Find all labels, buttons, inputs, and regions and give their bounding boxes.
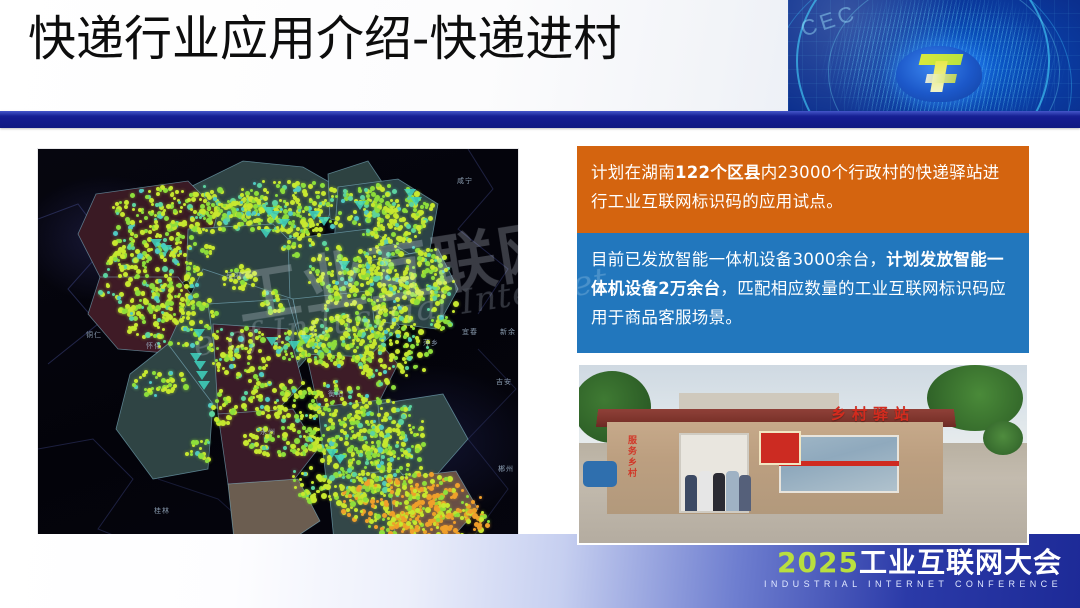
map-data-point: [139, 376, 142, 379]
map-data-point: [118, 274, 122, 278]
map-data-point: [261, 411, 265, 415]
map-data-point: [453, 301, 459, 307]
map-data-point: [418, 428, 421, 431]
map-data-point: [296, 213, 300, 217]
map-data-point: [149, 225, 152, 228]
map-data-point: [342, 401, 347, 406]
map-city-label: 桂林: [154, 506, 170, 516]
map-data-point: [341, 509, 346, 514]
map-data-point: [198, 453, 204, 459]
map-data-point: [153, 314, 156, 317]
map-data-point: [394, 356, 398, 360]
map-data-point: [441, 294, 446, 299]
map-data-point: [256, 378, 259, 381]
map-data-point: [419, 251, 424, 256]
map-data-point: [161, 212, 165, 216]
map-data-point: [112, 206, 115, 209]
rural-express-station-photo[interactable]: 乡村驿站 服务乡村: [577, 363, 1029, 545]
map-data-point: [315, 437, 320, 442]
map-data-point: [418, 520, 421, 523]
map-data-point: [398, 431, 401, 434]
map-data-point: [260, 405, 264, 409]
map-data-point: [208, 245, 212, 249]
map-data-point: [392, 420, 396, 424]
map-marker-triangle: [410, 197, 422, 206]
map-data-point: [435, 301, 440, 306]
map-data-point: [223, 283, 226, 286]
map-data-point: [334, 301, 338, 305]
map-data-point: [338, 471, 341, 474]
map-data-point: [291, 446, 294, 449]
map-data-point: [388, 446, 392, 450]
map-data-point: [410, 344, 415, 349]
map-data-point: [313, 417, 316, 420]
map-data-point: [142, 320, 146, 324]
map-data-point: [402, 485, 407, 490]
map-data-point: [362, 233, 365, 236]
map-data-point: [223, 204, 226, 207]
map-data-point: [406, 290, 411, 295]
map-data-point: [326, 384, 330, 388]
map-data-point: [254, 389, 258, 393]
map-data-point: [448, 488, 452, 492]
map-data-point: [217, 207, 220, 210]
map-data-point: [288, 211, 293, 216]
map-data-point: [405, 267, 409, 271]
map-data-point: [300, 483, 304, 487]
map-data-point: [200, 248, 205, 253]
map-data-point: [107, 291, 110, 294]
map-data-point: [251, 283, 255, 287]
map-data-point: [303, 192, 308, 197]
map-data-point: [183, 327, 187, 331]
map-data-point: [199, 216, 202, 219]
map-data-point: [289, 235, 292, 238]
map-data-point: [420, 433, 425, 438]
page-title: 快递行业应用介绍-快递进村: [28, 14, 621, 64]
map-data-point: [402, 208, 407, 213]
map-data-point: [365, 291, 370, 296]
map-data-point: [180, 206, 183, 209]
map-data-point: [354, 288, 359, 293]
map-data-point: [272, 388, 277, 393]
map-data-point: [369, 248, 372, 251]
map-data-point: [179, 250, 182, 253]
map-data-point: [309, 416, 312, 419]
map-data-point: [359, 438, 362, 441]
map-data-point: [430, 259, 434, 263]
map-marker-triangle: [260, 229, 272, 238]
map-data-point: [265, 300, 269, 304]
map-data-point: [349, 402, 352, 405]
map-data-point: [158, 386, 161, 389]
map-data-point: [222, 213, 227, 218]
map-data-point: [292, 404, 296, 408]
map-data-point: [393, 473, 397, 477]
map-data-point: [235, 348, 239, 352]
map-data-point: [286, 441, 290, 445]
map-data-point: [248, 221, 252, 225]
map-data-point: [318, 403, 321, 406]
map-data-point: [394, 311, 399, 316]
map-data-point: [416, 433, 419, 436]
map-data-point: [175, 237, 180, 242]
map-data-point: [315, 269, 320, 274]
map-data-point: [423, 270, 427, 274]
map-data-point: [354, 447, 358, 451]
map-data-point: [214, 417, 219, 422]
map-data-point: [297, 236, 302, 241]
map-data-point: [171, 220, 175, 224]
map-data-point: [382, 226, 385, 229]
conference-logo-en: INDUSTRIAL INTERNET CONFERENCE: [762, 579, 1062, 589]
map-data-point: [313, 391, 317, 395]
map-data-point: [292, 242, 296, 246]
map-data-point: [373, 276, 379, 282]
map-data-point: [303, 453, 306, 456]
map-data-point: [403, 450, 408, 455]
map-data-point: [162, 328, 165, 331]
map-data-point: [360, 195, 365, 200]
map-data-point: [200, 440, 203, 443]
map-data-point: [421, 442, 426, 447]
map-data-point: [401, 253, 404, 256]
map-data-point: [434, 259, 437, 262]
map-data-point: [239, 266, 242, 269]
map-data-point: [280, 391, 285, 396]
map-data-point: [288, 358, 291, 361]
photo-person-3: [713, 473, 725, 511]
map-data-point: [169, 273, 172, 276]
map-data-point: [369, 344, 373, 348]
map-data-point: [356, 460, 361, 465]
map-data-point: [204, 325, 207, 328]
map-data-point: [226, 396, 231, 401]
map-data-point: [408, 473, 411, 476]
map-data-point: [136, 333, 139, 336]
map-data-point: [282, 415, 286, 419]
map-data-point: [379, 198, 384, 203]
map-data-point: [396, 470, 399, 473]
map-data-point: [241, 347, 244, 350]
map-data-point: [430, 298, 433, 301]
map-data-point: [302, 210, 305, 213]
map-data-point: [330, 204, 333, 207]
map-data-point: [353, 210, 357, 214]
map-data-point: [207, 326, 211, 330]
map-data-point: [389, 358, 393, 362]
map-data-point: [399, 225, 403, 229]
map-data-point: [334, 485, 337, 488]
map-data-point: [355, 497, 358, 500]
map-data-point: [408, 338, 412, 342]
map-data-point: [399, 365, 404, 370]
map-data-point: [406, 259, 409, 262]
map-data-point: [431, 501, 435, 505]
map-data-point: [325, 247, 329, 251]
map-data-point: [327, 353, 332, 358]
map-data-point: [367, 298, 371, 302]
map-data-point: [466, 495, 469, 498]
map-data-point: [375, 369, 378, 372]
map-data-point: [351, 430, 354, 433]
map-data-point: [244, 391, 248, 395]
map-data-point: [353, 267, 356, 270]
map-data-point: [320, 458, 325, 463]
map-data-point: [434, 323, 439, 328]
map-data-point: [387, 458, 390, 461]
map-data-point: [149, 381, 152, 384]
map-data-point: [362, 428, 367, 433]
map-data-point: [421, 420, 424, 423]
map-marker-triangle: [190, 353, 202, 362]
map-data-point: [352, 342, 355, 345]
map-data-point: [286, 245, 291, 250]
map-data-point: [116, 212, 119, 215]
map-data-point: [147, 256, 152, 261]
map-data-point: [228, 204, 231, 207]
map-data-point: [294, 332, 297, 335]
map-data-point: [317, 444, 322, 449]
map-data-point: [328, 262, 332, 266]
map-data-point: [453, 521, 456, 524]
map-data-point: [199, 198, 202, 201]
map-data-point: [389, 452, 393, 456]
map-data-point: [236, 212, 242, 218]
map-data-point: [257, 183, 262, 188]
map-data-point: [163, 340, 166, 343]
map-data-point: [377, 413, 381, 417]
map-data-point: [384, 435, 387, 438]
map-data-point: [455, 483, 460, 488]
map-data-point: [165, 232, 169, 236]
map-data-point: [321, 343, 326, 348]
map-data-point: [254, 442, 259, 447]
map-data-point: [310, 439, 313, 442]
map-data-point: [407, 238, 412, 243]
map-data-point: [391, 517, 396, 522]
map-data-point: [393, 455, 396, 458]
map-data-point: [403, 345, 406, 348]
map-data-point: [316, 474, 322, 480]
map-data-point: [171, 192, 174, 195]
map-data-point: [425, 522, 430, 527]
map-data-point: [372, 306, 377, 311]
map-data-point: [131, 298, 134, 301]
map-data-point: [415, 483, 419, 487]
map-data-point: [265, 364, 268, 367]
map-data-point: [357, 304, 363, 310]
map-data-point: [298, 203, 301, 206]
map-data-point: [388, 367, 391, 370]
map-data-point: [399, 522, 403, 526]
map-data-point: [361, 513, 364, 516]
map-data-point: [279, 405, 284, 410]
map-data-point: [327, 342, 332, 347]
map-data-point: [236, 354, 241, 359]
map-data-point: [344, 323, 348, 327]
map-data-point: [174, 320, 178, 324]
status-callout-text: 目前已发放智能一体机设备3000余台，计划发放智能一体机设备2万余台，匹配相应数…: [591, 245, 1015, 332]
map-data-point: [347, 328, 351, 332]
map-data-point: [429, 270, 433, 274]
map-data-point: [374, 477, 379, 482]
map-city-label: 岳阳: [226, 271, 242, 281]
map-data-point: [330, 425, 335, 430]
map-data-point: [408, 232, 411, 235]
map-data-point: [433, 282, 438, 287]
map-data-point: [128, 277, 133, 282]
map-data-point: [383, 308, 388, 313]
map-data-point: [348, 276, 351, 279]
map-data-point: [191, 311, 196, 316]
map-data-point: [358, 249, 363, 254]
map-data-point: [211, 405, 216, 410]
header-accent-sheen: [0, 111, 1080, 116]
map-data-point: [292, 183, 297, 188]
map-data-point: [377, 282, 382, 287]
map-data-point: [436, 526, 439, 529]
map-data-point: [357, 332, 362, 337]
map-data-point: [140, 230, 144, 234]
map-data-point: [404, 319, 408, 323]
map-data-point: [317, 257, 321, 261]
map-data-point: [232, 286, 236, 290]
map-data-point: [282, 356, 286, 360]
map-data-point: [392, 189, 397, 194]
map-data-point: [179, 318, 184, 323]
map-data-point: [214, 311, 219, 316]
map-data-point: [397, 236, 403, 242]
map-data-point: [136, 214, 139, 217]
map-data-point: [193, 242, 197, 246]
map-data-point: [273, 406, 277, 410]
map-data-point: [250, 189, 253, 192]
map-data-point: [257, 449, 262, 454]
map-data-point: [266, 356, 271, 361]
map-data-point: [250, 396, 253, 399]
map-data-point: [249, 433, 253, 437]
map-data-point: [205, 459, 209, 463]
map-data-point: [98, 290, 103, 295]
map-data-point: [311, 242, 315, 246]
map-data-point: [360, 411, 363, 414]
map-data-point: [479, 517, 484, 522]
map-data-point: [308, 392, 311, 395]
map-data-point: [347, 386, 352, 391]
map-marker-triangle: [300, 335, 312, 344]
map-data-point: [366, 451, 371, 456]
map-data-point: [329, 187, 334, 192]
map-data-point: [322, 241, 327, 246]
map-data-point: [326, 427, 330, 431]
map-data-point: [230, 332, 234, 336]
map-data-point: [157, 372, 162, 377]
map-data-point: [427, 308, 430, 311]
map-data-point: [468, 509, 473, 514]
map-data-point: [347, 513, 351, 517]
map-data-point: [307, 353, 311, 357]
map-data-point: [321, 272, 325, 276]
map-data-point: [348, 395, 352, 399]
map-data-point: [408, 511, 411, 514]
map-data-point: [240, 201, 243, 204]
map-data-point: [388, 239, 393, 244]
map-data-point: [366, 277, 369, 280]
map-data-point: [461, 489, 464, 492]
map-data-point: [429, 472, 434, 477]
map-marker-triangle: [263, 207, 275, 216]
map-data-point: [317, 490, 320, 493]
map-data-point: [382, 283, 386, 287]
map-data-point: [389, 311, 392, 314]
map-data-point: [416, 225, 421, 230]
map-data-point: [394, 214, 399, 219]
map-data-point: [139, 220, 142, 223]
t-logo-icon: [914, 52, 966, 94]
map-data-point: [244, 208, 247, 211]
map-data-point: [272, 200, 278, 206]
status-callout: 目前已发放智能一体机设备3000余台，计划发放智能一体机设备2万余台，匹配相应数…: [577, 233, 1029, 353]
map-data-point: [442, 255, 447, 260]
map-data-point: [195, 283, 199, 287]
map-data-point: [395, 249, 400, 254]
map-data-point: [161, 311, 164, 314]
map-data-point: [338, 211, 342, 215]
map-data-point: [377, 217, 381, 221]
map-data-point: [366, 265, 370, 269]
conference-logo-main: 2025工业互联网大会: [762, 548, 1062, 578]
map-data-point: [311, 481, 314, 484]
map-data-point: [438, 281, 442, 285]
map-data-point: [325, 403, 329, 407]
map-data-point: [292, 220, 295, 223]
map-data-point: [211, 203, 215, 207]
map-data-point: [204, 442, 207, 445]
map-data-point: [367, 423, 370, 426]
map-data-point: [379, 272, 383, 276]
map-data-point: [427, 486, 430, 489]
map-data-point: [139, 189, 143, 193]
map-data-point: [405, 476, 408, 479]
map-data-point: [441, 326, 445, 330]
map-data-point: [179, 210, 182, 213]
map-data-point: [177, 283, 182, 288]
photo-sign-text: 乡村驿站: [831, 403, 915, 424]
map-city-label: 衡阳: [328, 389, 344, 399]
header-accent-bar: [0, 111, 1080, 128]
map-data-point: [352, 458, 355, 461]
map-data-point: [238, 336, 244, 342]
map-data-point: [425, 203, 429, 207]
map-data-point: [302, 390, 307, 395]
map-data-point: [184, 284, 189, 289]
map-city-label: 吉安: [496, 377, 512, 387]
map-data-point: [340, 487, 344, 491]
map-data-point: [192, 227, 197, 232]
map-data-point: [207, 441, 210, 444]
map-data-point: [129, 307, 133, 311]
map-data-point: [308, 444, 313, 449]
map-data-point: [120, 254, 125, 259]
map-data-point: [352, 326, 356, 330]
photo-person-4: [726, 471, 739, 511]
hunan-distribution-map[interactable]: 咸宁岳阳宜春新余铜仁怀化萍乡吉安衡阳永州郴州桂林韶关: [37, 148, 519, 557]
map-data-point: [314, 343, 317, 346]
map-data-point: [277, 410, 282, 415]
map-data-point: [395, 504, 398, 507]
map-data-point: [381, 287, 387, 293]
